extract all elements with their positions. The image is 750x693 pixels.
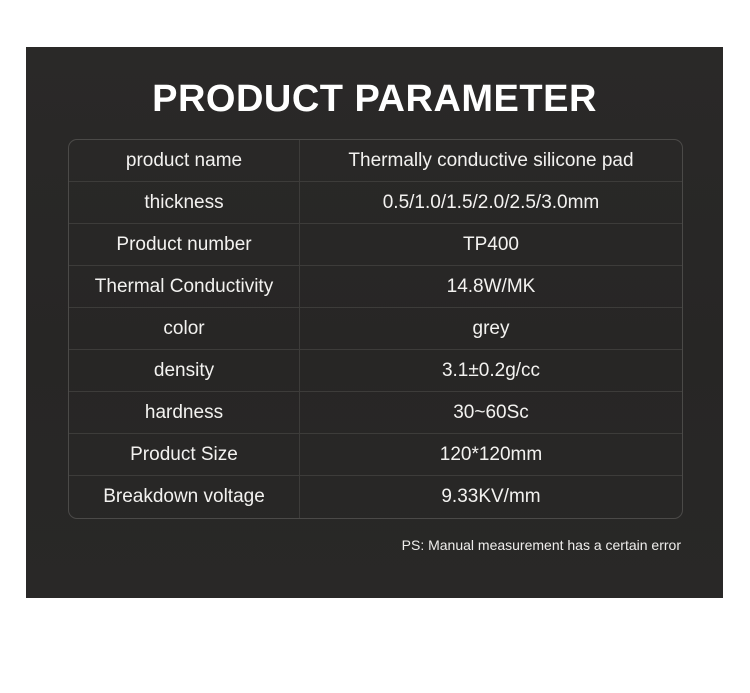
table-row: density 3.1±0.2g/cc [69,350,682,392]
spec-label: Thermal Conductivity [69,266,300,307]
spec-label: Breakdown voltage [69,476,300,518]
spec-value: 3.1±0.2g/cc [300,350,682,391]
spec-label: color [69,308,300,349]
spec-label: hardness [69,392,300,433]
spec-label: Product Size [69,434,300,475]
product-parameter-page: PRODUCT PARAMETER product name Thermally… [0,0,750,693]
spec-label: Product number [69,224,300,265]
table-row: Product Size 120*120mm [69,434,682,476]
spec-value: 0.5/1.0/1.5/2.0/2.5/3.0mm [300,182,682,223]
spec-label: thickness [69,182,300,223]
spec-value: Thermally conductive silicone pad [300,140,682,181]
spec-label: product name [69,140,300,181]
measurement-disclaimer: PS: Manual measurement has a certain err… [402,536,681,554]
page-title: PRODUCT PARAMETER [26,77,723,121]
table-row: color grey [69,308,682,350]
spec-value: 120*120mm [300,434,682,475]
spec-value: TP400 [300,224,682,265]
table-row: hardness 30~60Sc [69,392,682,434]
spec-value: 30~60Sc [300,392,682,433]
spec-value: 14.8W/MK [300,266,682,307]
table-row: Breakdown voltage 9.33KV/mm [69,476,682,518]
specification-table: product name Thermally conductive silico… [68,139,683,519]
table-row: product name Thermally conductive silico… [69,140,682,182]
table-row: thickness 0.5/1.0/1.5/2.0/2.5/3.0mm [69,182,682,224]
table-row: Thermal Conductivity 14.8W/MK [69,266,682,308]
table-row: Product number TP400 [69,224,682,266]
spec-label: density [69,350,300,391]
spec-value: 9.33KV/mm [300,476,682,518]
spec-value: grey [300,308,682,349]
product-parameter-panel: PRODUCT PARAMETER product name Thermally… [26,47,723,598]
